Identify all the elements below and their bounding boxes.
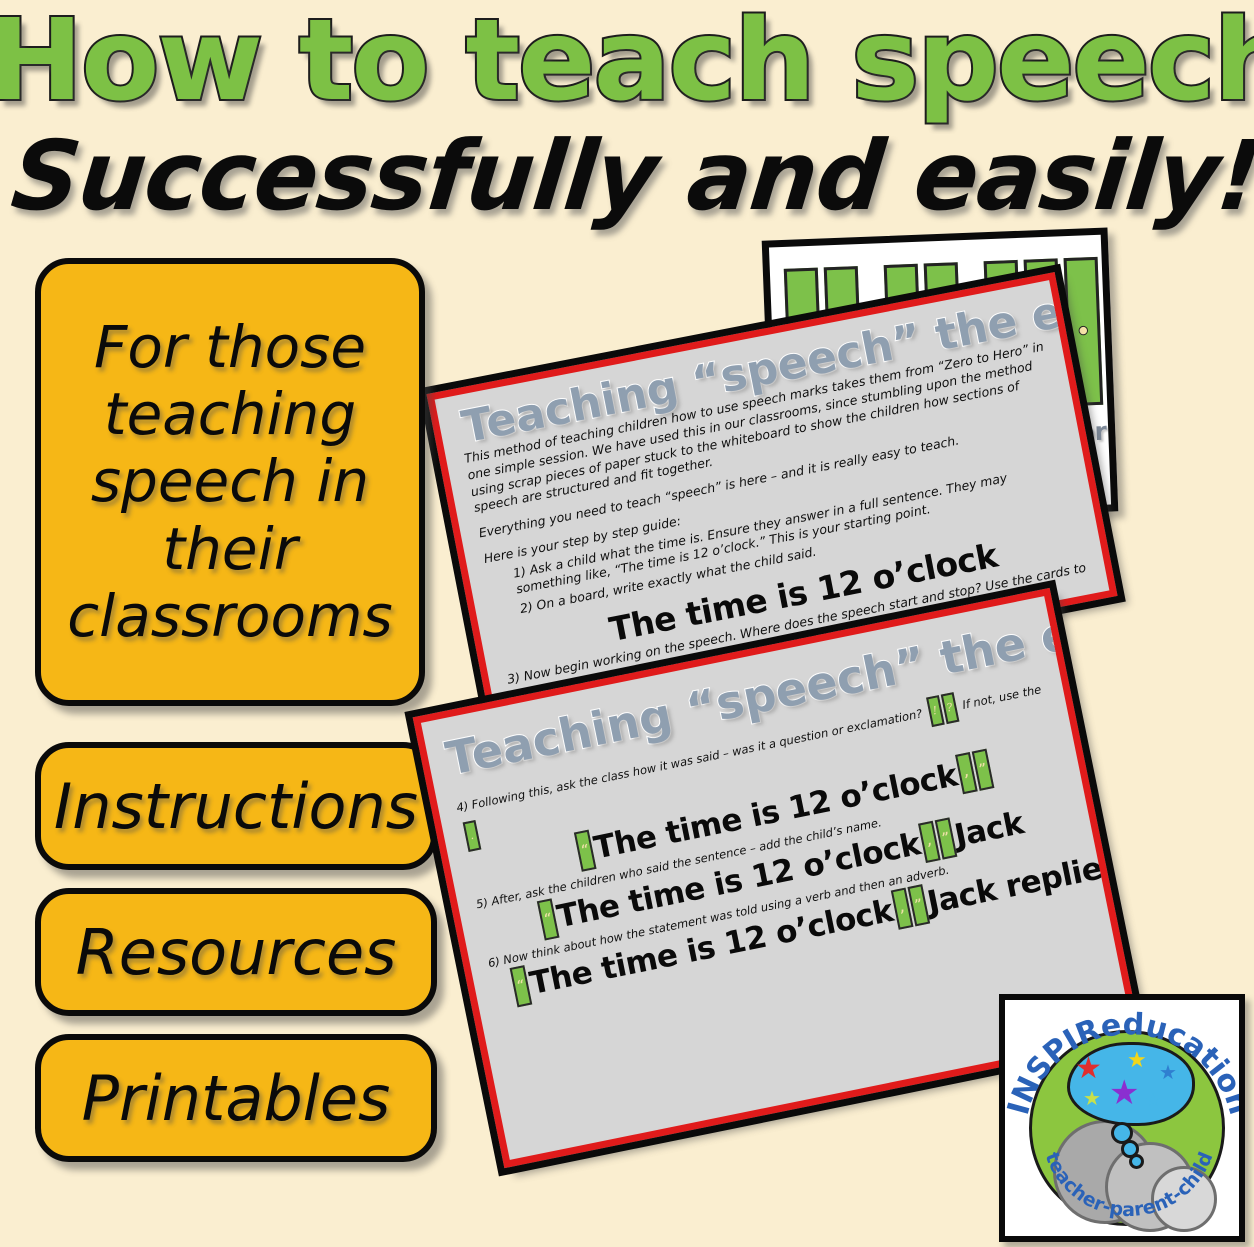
feature-box-resources-label: Resources — [76, 916, 397, 989]
feature-box-printables-label: Printables — [82, 1062, 391, 1135]
logo-tagline-text: teacher-parent-child — [1041, 1149, 1218, 1221]
spacer — [858, 265, 884, 266]
feature-box-audience-label: For those teaching speech in their class… — [51, 314, 409, 650]
page-subtitle: Successfully and easily! — [7, 120, 1248, 232]
logo-brand-text: INSPIReducation — [1005, 1007, 1245, 1119]
logo-tagline-arc: teacher-parent-child — [1005, 1120, 1245, 1240]
logo-brand-arc: INSPIReducation — [1005, 1006, 1245, 1126]
feature-box-resources[interactable]: Resources — [35, 888, 437, 1016]
card2-step-4-tail: If not, use the — [961, 682, 1042, 712]
brand-logo-card: ★ ★ ★ ★ ★ ★ INSPIReducation teacher-pare… — [999, 994, 1245, 1242]
logo-artwork: ★ ★ ★ ★ ★ ★ INSPIReducation teacher-pare… — [1005, 1000, 1239, 1236]
chip-pair-exclamation-question: ! ? — [926, 692, 959, 727]
svg-text:teacher-parent-child: teacher-parent-child — [1041, 1149, 1218, 1221]
full-stop-chip: . — [463, 820, 482, 852]
svg-text:INSPIReducation: INSPIReducation — [1005, 1007, 1245, 1119]
spacer — [958, 261, 984, 262]
poster-canvas: How to teach speech Successfully and eas… — [0, 0, 1254, 1247]
page-title: How to teach speech — [0, 4, 1254, 118]
feature-box-instructions-label: Instructions — [54, 770, 418, 843]
chip-full-stop: . — [463, 820, 482, 852]
feature-box-printables[interactable]: Printables — [35, 1034, 437, 1162]
feature-box-instructions[interactable]: Instructions — [35, 742, 437, 870]
feature-box-audience[interactable]: For those teaching speech in their class… — [35, 258, 425, 706]
